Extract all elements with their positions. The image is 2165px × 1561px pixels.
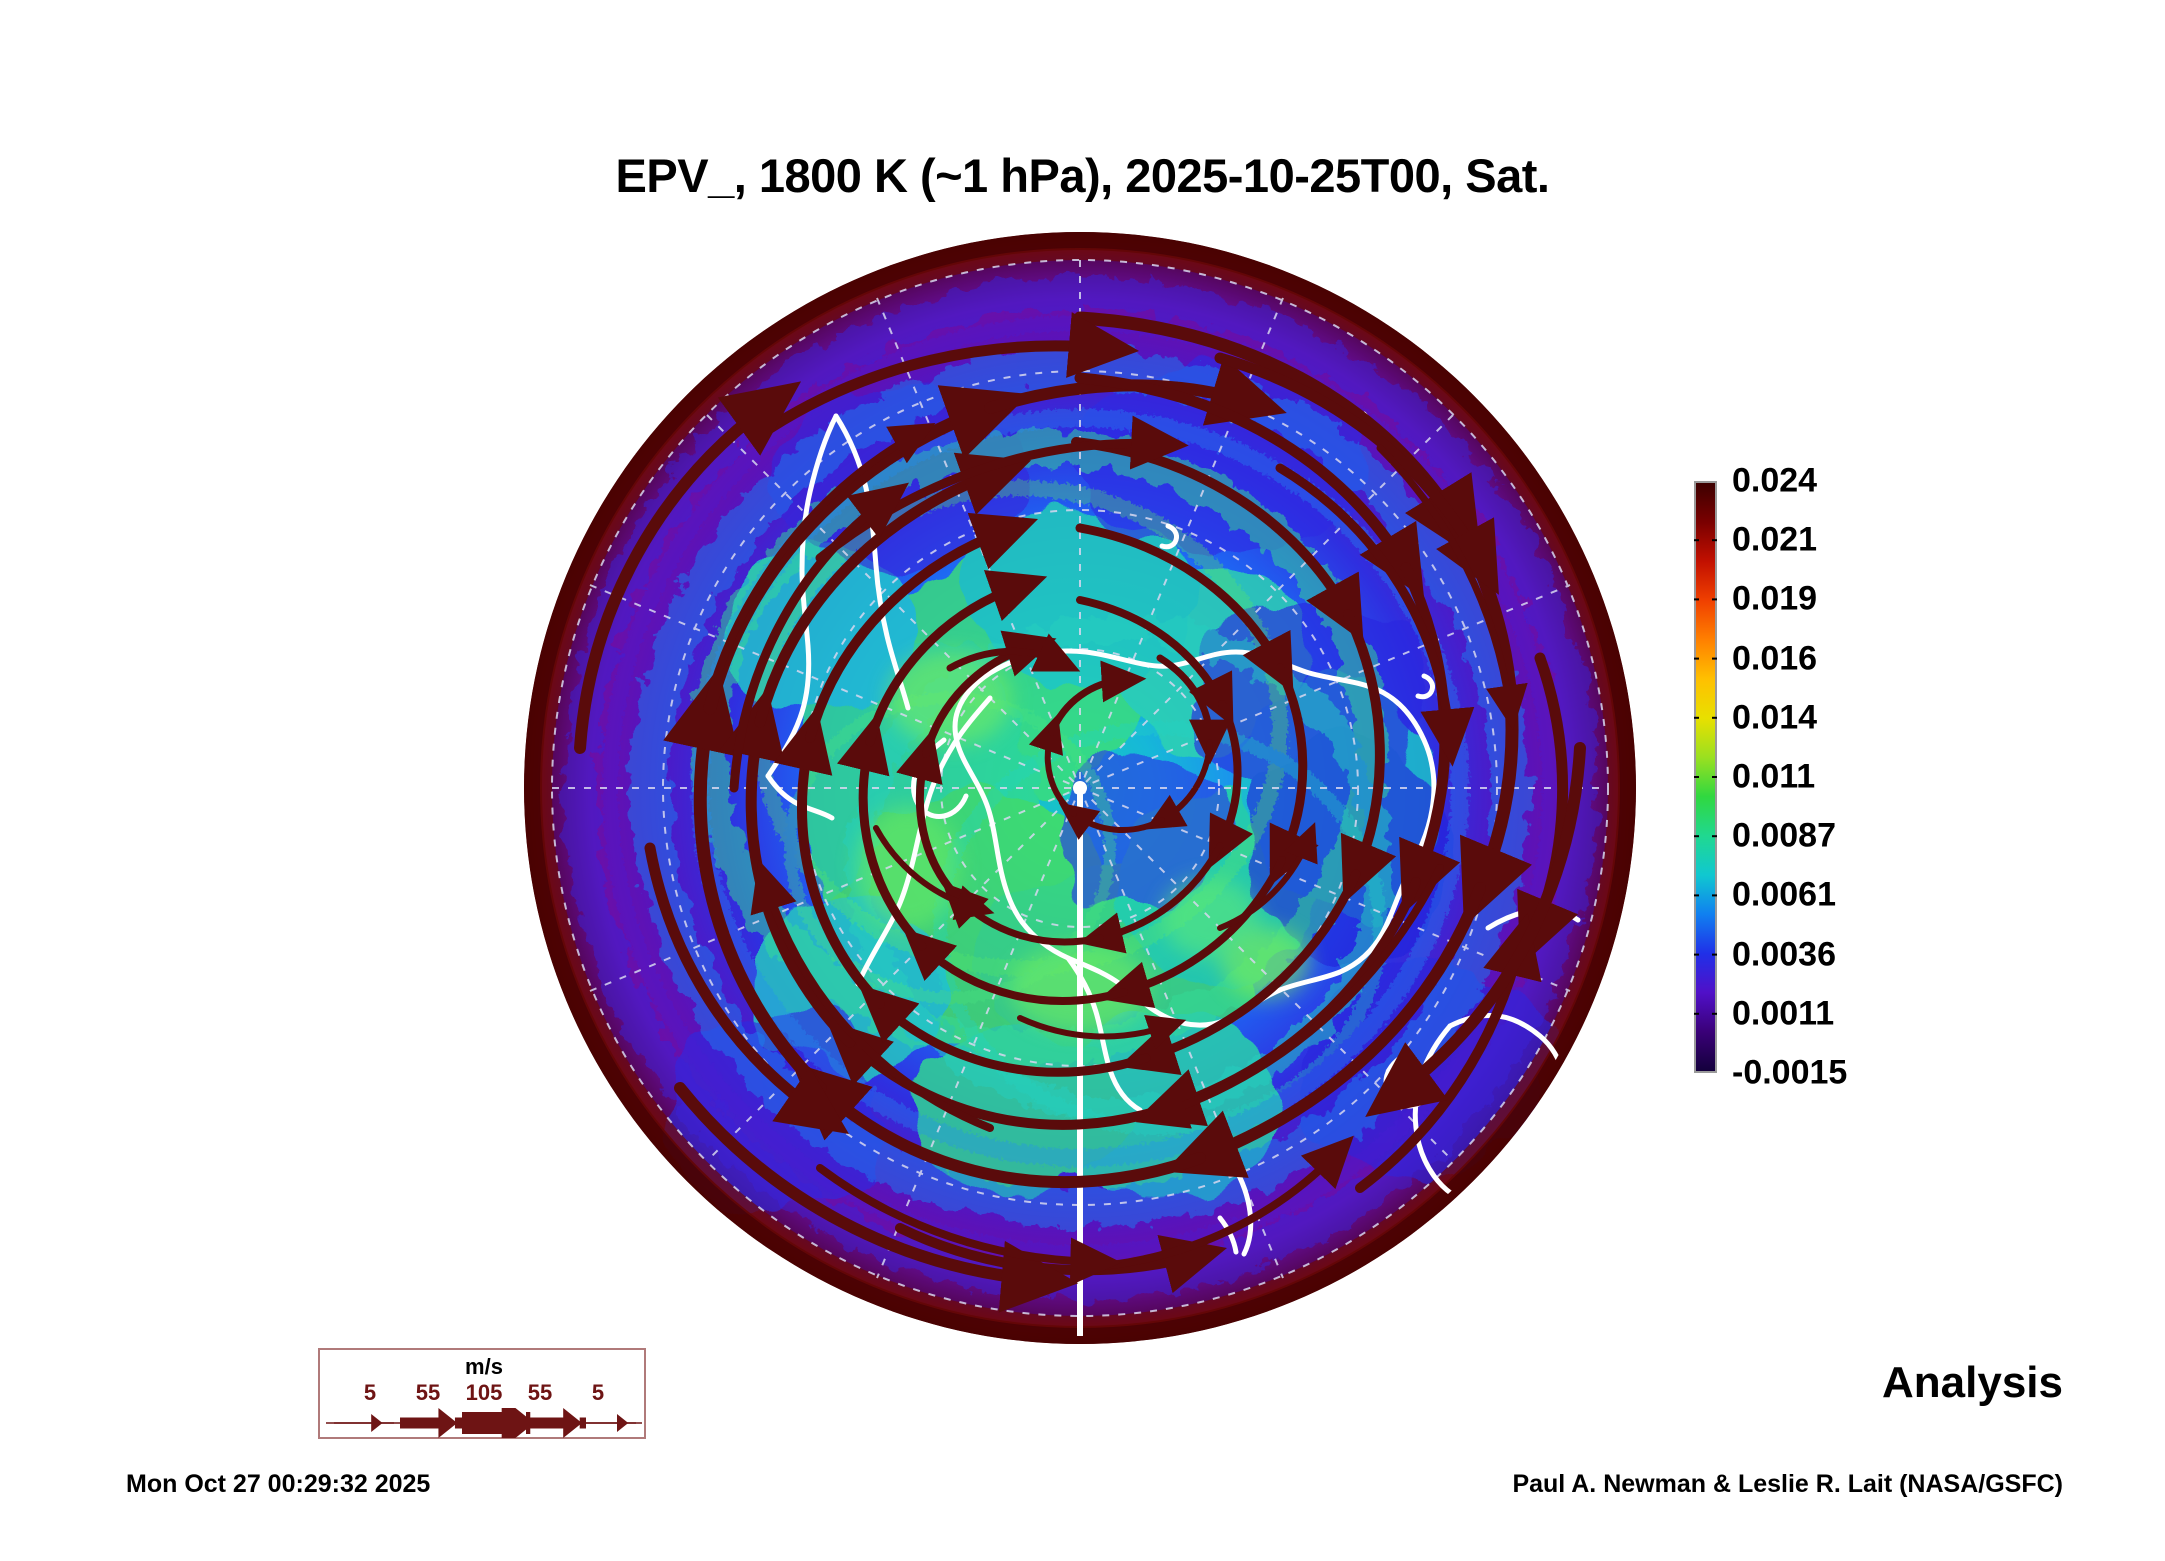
colorbar-tick-label: 0.011 [1732,758,1815,797]
colorbar-tick-label: 0.0061 [1732,876,1836,915]
colorbar-tick-label: 0.024 [1732,462,1817,501]
legend-tick-labels: 555105555 [320,1380,648,1408]
map-svg [520,228,1640,1348]
legend-tick-label: 5 [592,1380,604,1406]
legend-tick-label: 55 [528,1380,552,1406]
legend-tick-label: 105 [466,1380,503,1406]
colorbar-labels: 0.0240.0210.0190.0160.0140.0110.00870.00… [1732,481,2062,1073]
footer-timestamp: Mon Oct 27 00:29:32 2025 [126,1470,430,1499]
colorbar-tick-label: 0.016 [1732,639,1817,678]
colorbar-tick-label: 0.0087 [1732,817,1836,856]
wind-speed-legend: m/s 555105555 [318,1348,646,1439]
pole-marker [1073,781,1087,795]
colorbar-ticks [1694,481,1717,1073]
colorbar-tick-label: 0.0011 [1732,994,1834,1033]
legend-arrow-glyphs [320,1408,648,1438]
footer-credit: Paul A. Newman & Leslie R. Lait (NASA/GS… [1512,1470,2063,1499]
analysis-label: Analysis [1882,1358,2063,1408]
polar-stereographic-map [520,228,1640,1348]
colorbar-tick-label: 0.019 [1732,580,1817,619]
colorbar-tick-label: -0.0015 [1732,1054,1847,1093]
colorbar-tick-label: 0.014 [1732,698,1817,737]
colorbar-tick-label: 0.0036 [1732,935,1836,974]
legend-tick-label: 55 [416,1380,440,1406]
page-title: EPV_, 1800 K (~1 hPa), 2025-10-25T00, Sa… [0,148,2165,203]
legend-units-label: m/s [320,1354,648,1380]
colorbar-tick-label: 0.021 [1732,521,1817,560]
legend-tick-label: 5 [364,1380,376,1406]
colorbar: 0.0240.0210.0190.0160.0140.0110.00870.00… [1694,481,2114,1081]
